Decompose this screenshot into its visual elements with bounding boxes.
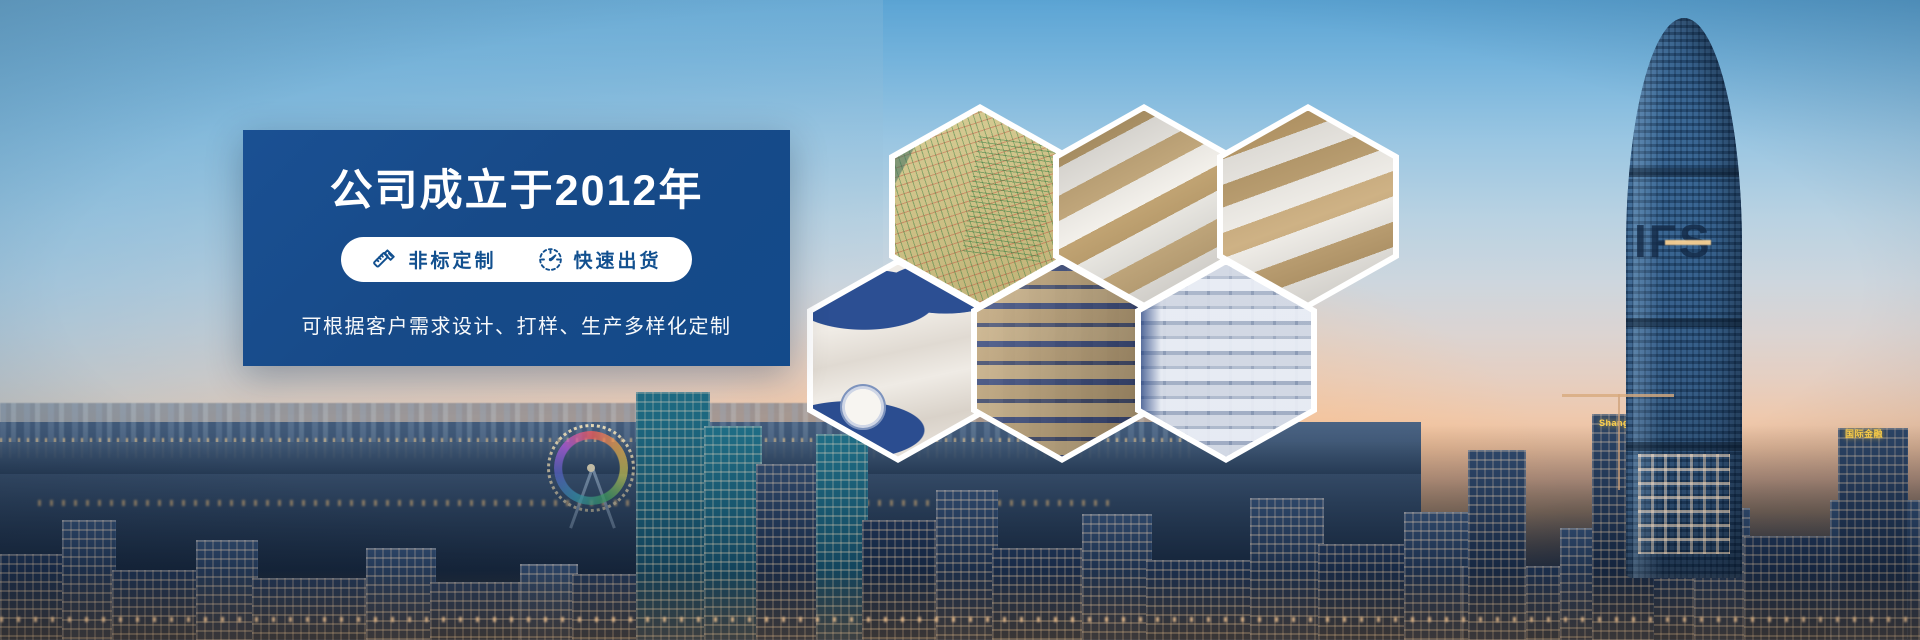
tower-band: [1626, 442, 1742, 451]
pen-ruler-icon: [371, 246, 398, 273]
tower-lit-floor: [1665, 240, 1711, 245]
feature-badge-pill: 非标定制 快速出货: [341, 237, 691, 282]
construction-crane-icon: [1618, 394, 1620, 490]
product-photo-kraft-stack: [1223, 111, 1393, 303]
hexagon-gallery: [795, 90, 1295, 420]
tower-band: [1626, 318, 1742, 327]
gauge-speed-icon: [537, 246, 564, 273]
tower-band: [1626, 168, 1742, 177]
badge-item-fast-delivery[interactable]: 快速出货: [537, 246, 662, 273]
hero-banner: ShangHai 国际金融 IFS: [0, 0, 1920, 640]
product-photo-pallet: [977, 265, 1147, 457]
page-subtitle: 可根据客户需求设计、打样、生产多样化定制: [302, 310, 732, 339]
page-title: 公司成立于2012年: [330, 170, 704, 213]
hero-text-panel: 公司成立于2012年 非标定制: [243, 130, 790, 366]
badge-label-custom: 非标定制: [408, 246, 496, 273]
product-photo-sacks-white: [813, 265, 983, 457]
hexagon-image-mask: [813, 265, 983, 457]
street-lights: [0, 617, 1920, 622]
hexagon-image-mask: [1223, 111, 1393, 303]
ifs-tower: IFS: [1626, 18, 1742, 578]
badge-label-fast-delivery: 快速出货: [574, 246, 662, 273]
hexagon-image-mask: [977, 265, 1147, 457]
badge-item-custom[interactable]: 非标定制: [371, 246, 496, 273]
tower-podium-lights: [1638, 454, 1731, 554]
ground-glow: [0, 570, 1920, 640]
building-sign: 国际金融: [1845, 427, 1883, 440]
